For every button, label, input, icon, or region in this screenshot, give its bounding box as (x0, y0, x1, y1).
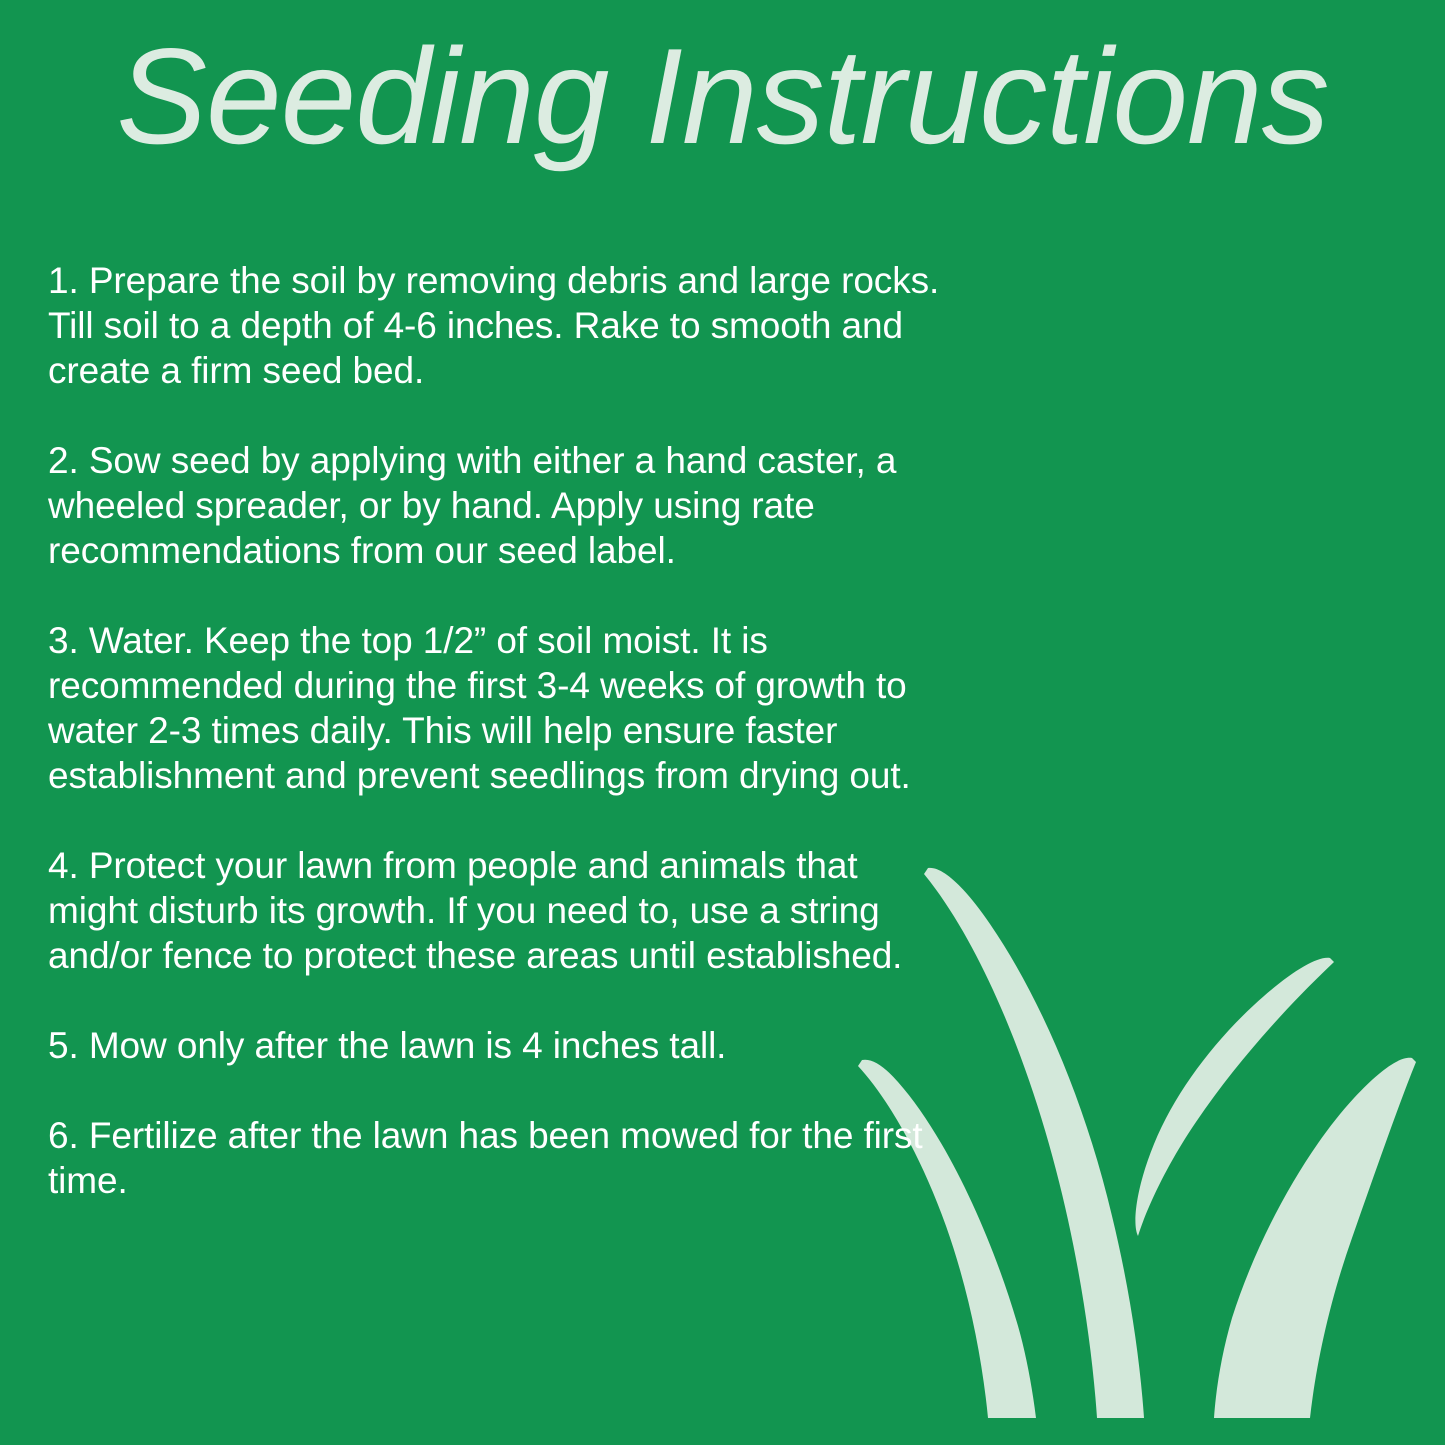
instruction-step-4: 4. Protect your lawn from people and ani… (48, 843, 948, 978)
instruction-step-3: 3. Water. Keep the top 1/2” of soil mois… (48, 618, 948, 798)
grass-blade-inner-right (1135, 958, 1334, 1236)
instruction-step-6: 6. Fertilize after the lawn has been mow… (48, 1113, 948, 1203)
seeding-instructions-poster: Seeding Instructions 1. Prepare the soil… (0, 0, 1445, 1445)
instruction-step-5: 5. Mow only after the lawn is 4 inches t… (48, 1023, 948, 1068)
grass-blade-right (1214, 1058, 1416, 1418)
page-title: Seeding Instructions (0, 28, 1445, 164)
grass-blade-tall-center (924, 868, 1144, 1418)
instruction-step-2: 2. Sow seed by applying with either a ha… (48, 438, 948, 573)
instructions-list: 1. Prepare the soil by removing debris a… (48, 258, 948, 1203)
instruction-step-1: 1. Prepare the soil by removing debris a… (48, 258, 948, 393)
